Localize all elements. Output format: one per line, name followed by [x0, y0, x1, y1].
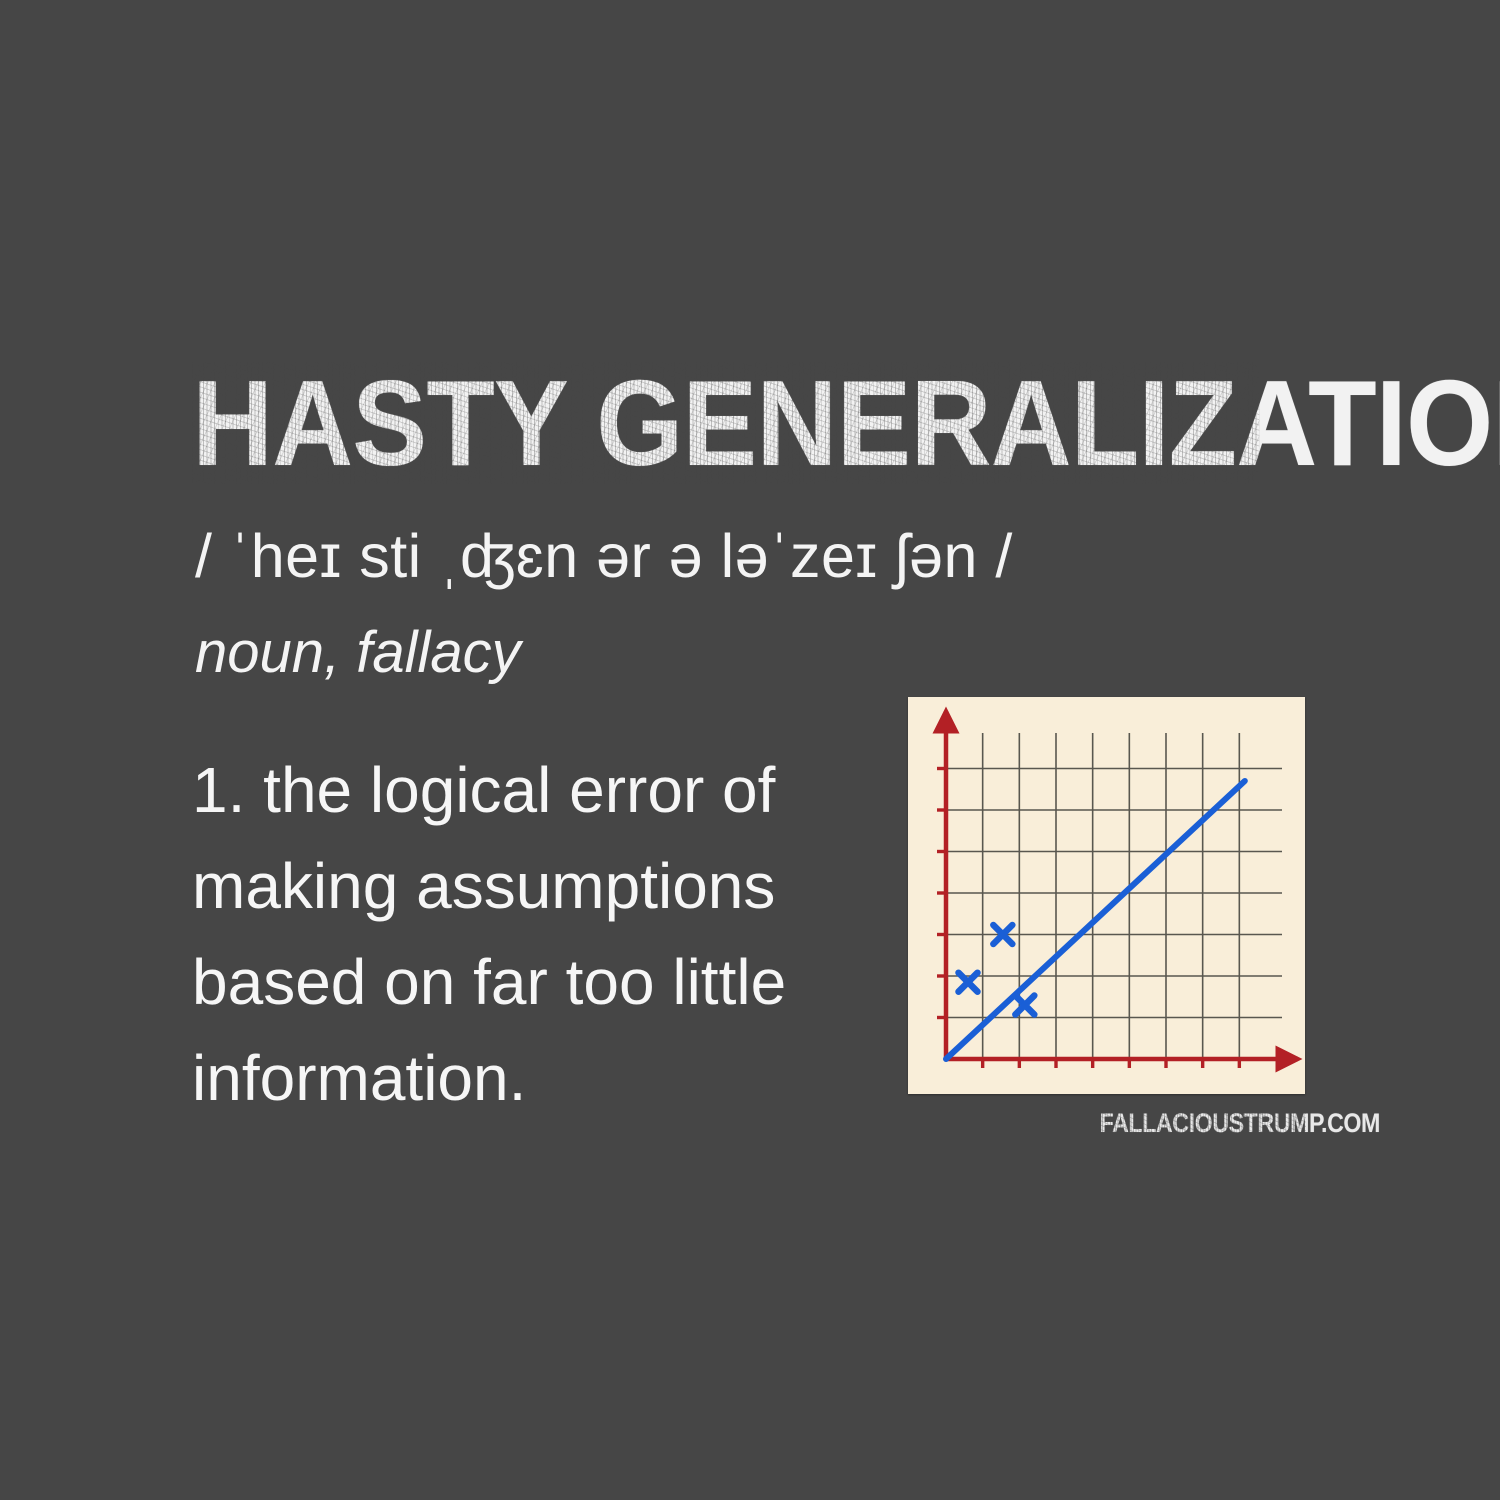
definition-text: 1. the logical error of making assumptio… — [192, 742, 897, 1126]
site-watermark[interactable]: FALLACIOUSTRUMP.COM — [1100, 1108, 1306, 1138]
chart-background — [908, 697, 1305, 1094]
part-of-speech-text: noun, fallacy — [195, 618, 521, 688]
scatter-chart-figure — [908, 697, 1305, 1094]
chart-svg — [908, 697, 1305, 1094]
meme-card: HASTY GENERALIZATION / ˈheɪ sti ˌʤɛn ər … — [0, 0, 1500, 1500]
page-title: HASTY GENERALIZATION — [192, 362, 1259, 484]
pronunciation-text: / ˈheɪ sti ˌʤɛn ər ə ləˈzeɪ ʃən / — [195, 520, 1013, 592]
